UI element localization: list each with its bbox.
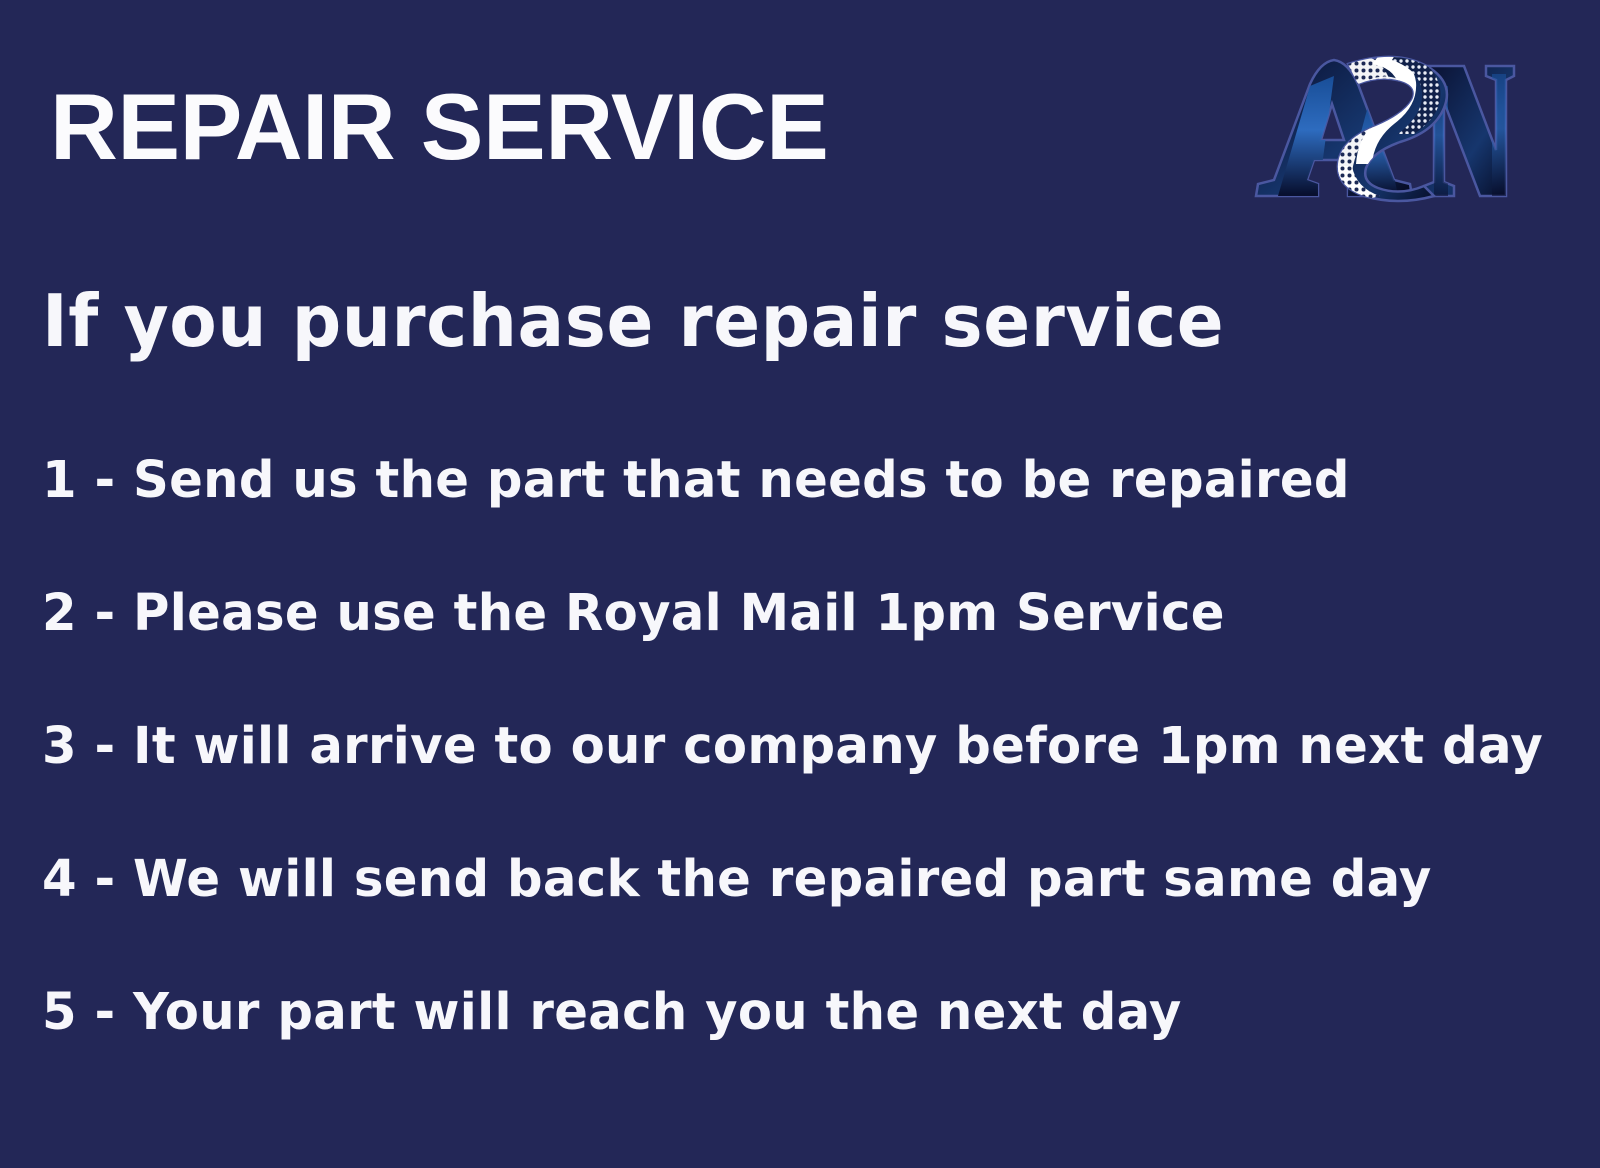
steps-list: 1 - Send us the part that needs to be re… [42, 455, 1572, 1054]
list-item: 5 - Your part will reach you the next da… [42, 987, 1534, 1054]
list-item: 4 - We will send back the repaired part … [42, 854, 1534, 921]
page-title: REPAIR SERVICE [50, 76, 828, 178]
list-item: 3 - It will arrive to our company before… [42, 721, 1534, 788]
asn-logo [1248, 46, 1516, 204]
repair-service-poster: REPAIR SERVICE [0, 0, 1600, 1168]
list-item: 2 - Please use the Royal Mail 1pm Servic… [42, 588, 1534, 655]
list-item: 1 - Send us the part that needs to be re… [42, 455, 1534, 522]
subheading: If you purchase repair service [42, 281, 1224, 362]
